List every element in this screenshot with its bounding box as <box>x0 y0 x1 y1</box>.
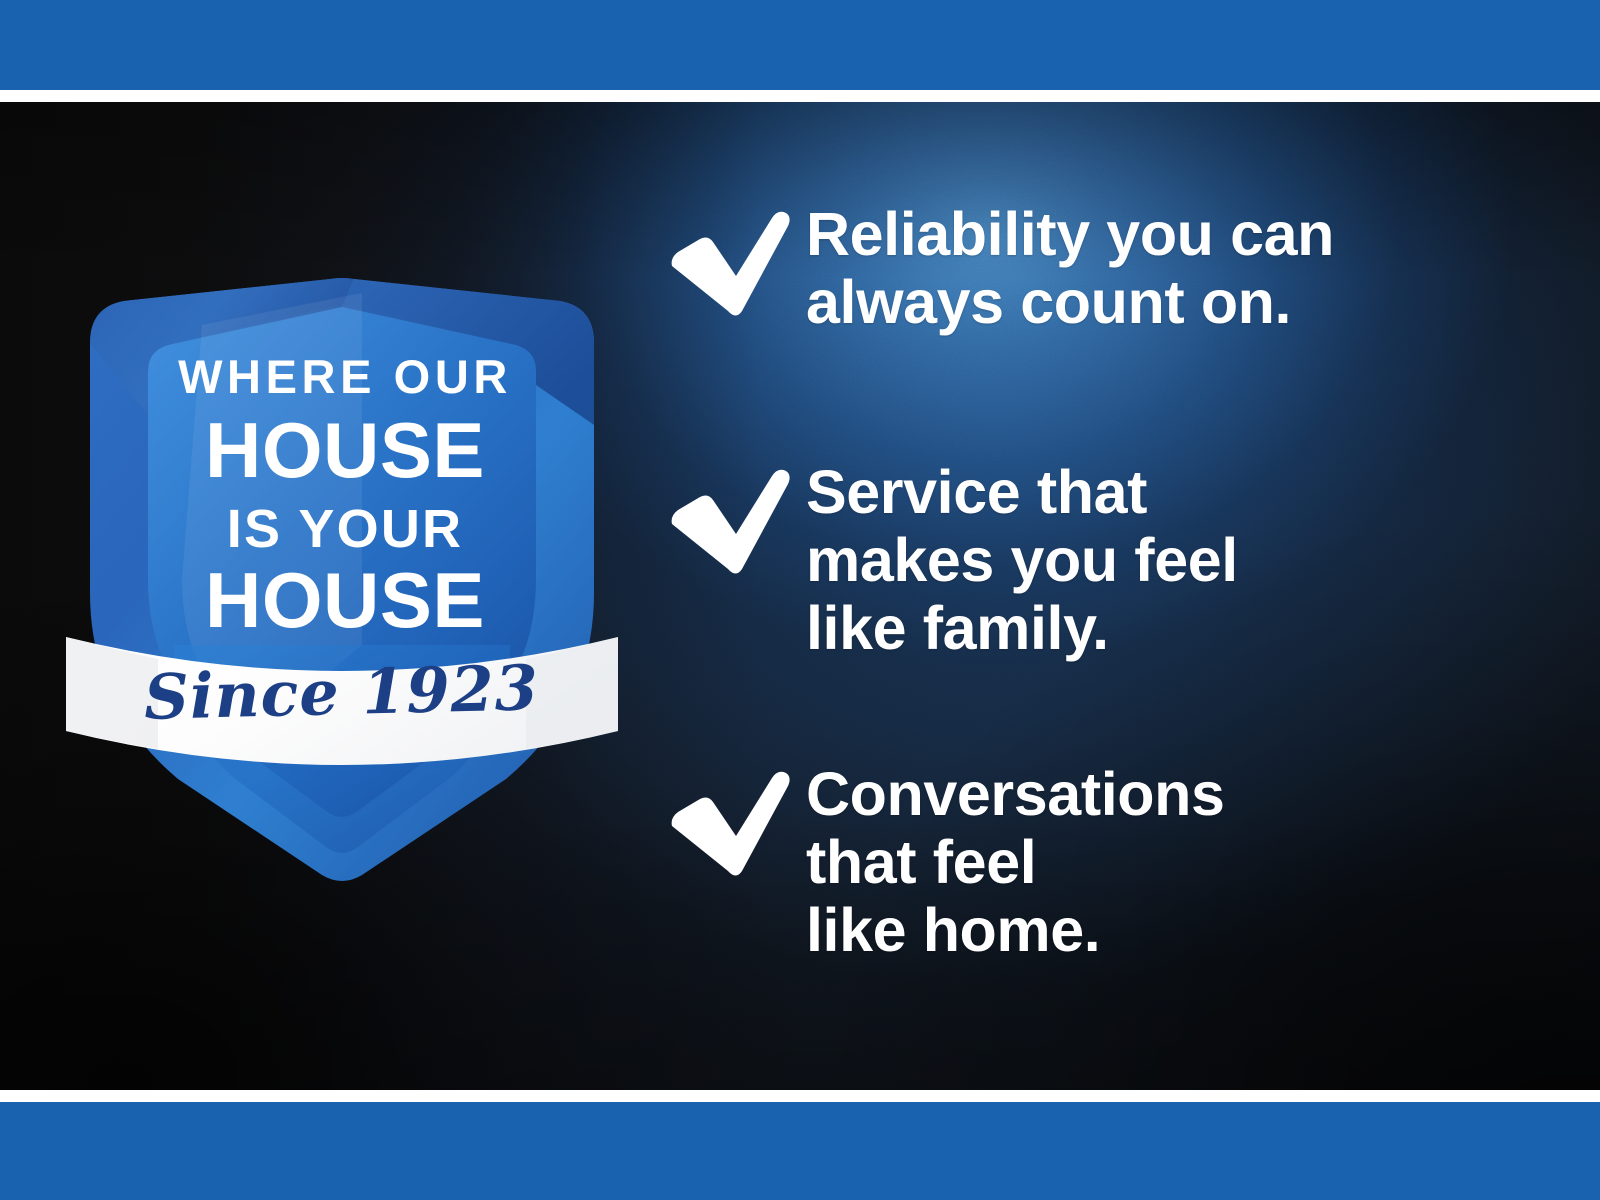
shield-line-2: HOUSE <box>205 406 485 494</box>
benefit-text-2: Service that makes you feel like family. <box>806 454 1528 662</box>
promo-graphic: WHERE OUR HOUSE IS YOUR HOUSE Since 1923… <box>0 0 1600 1200</box>
bottom-white-rule <box>0 1090 1600 1102</box>
benefit-text-1: Reliability you can always count on. <box>806 196 1528 336</box>
shield-emblem: WHERE OUR HOUSE IS YOUR HOUSE Since 1923 <box>62 175 622 875</box>
ribbon-since-text: Since 1923 <box>143 651 539 734</box>
shield-line-1: WHERE OUR <box>178 350 512 403</box>
benefit-item-2: Service that makes you feel like family. <box>668 454 1528 662</box>
shield-line-4: HOUSE <box>205 556 485 644</box>
benefit-item-3: Conversations that feel like home. <box>668 756 1528 964</box>
benefit-item-1: Reliability you can always count on. <box>668 196 1528 336</box>
bottom-brand-bar <box>0 1102 1600 1200</box>
top-brand-bar <box>0 0 1600 90</box>
check-icon-2 <box>668 454 806 576</box>
check-icon-3 <box>668 756 806 878</box>
shield-line-3: IS YOUR <box>227 499 463 559</box>
check-icon-1 <box>668 196 806 318</box>
top-white-rule <box>0 90 1600 102</box>
benefit-text-3: Conversations that feel like home. <box>806 756 1528 964</box>
